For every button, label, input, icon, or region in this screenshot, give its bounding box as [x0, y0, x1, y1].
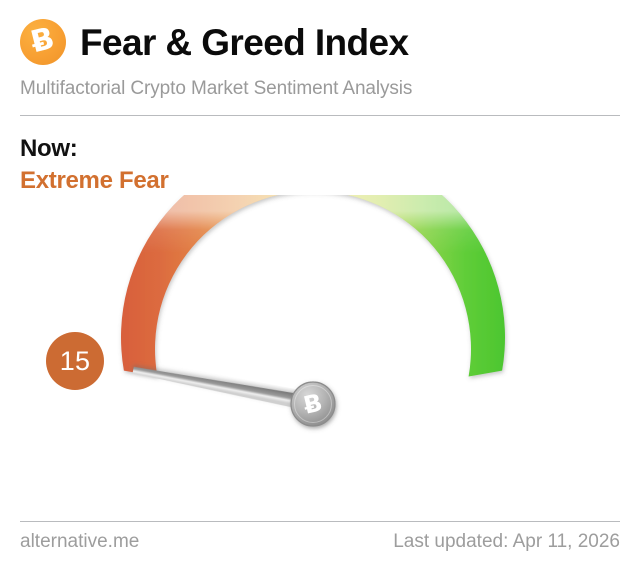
title-row: Ƀ Fear & Greed Index: [20, 16, 620, 68]
classification-label: Extreme Fear: [20, 167, 169, 195]
gauge-needle: [132, 363, 307, 410]
now-label: Now:: [20, 135, 169, 163]
source-label[interactable]: alternative.me: [20, 531, 139, 553]
header-divider: [20, 115, 620, 116]
footer-divider: [20, 521, 620, 522]
last-updated-label: Last updated: Apr 11, 2026: [393, 531, 620, 553]
needle-pointer: [132, 363, 307, 410]
gauge-hub: Ƀ: [291, 382, 335, 426]
bitcoin-icon: Ƀ: [20, 19, 66, 65]
score-badge: 15: [46, 332, 104, 390]
gauge-arc-group: [121, 195, 505, 377]
fear-greed-index-card: Ƀ Fear & Greed Index Multifactorial Cryp…: [0, 0, 640, 575]
header: Ƀ Fear & Greed Index Multifactorial Cryp…: [20, 16, 620, 100]
current-status-block: Now: Extreme Fear: [20, 135, 169, 196]
bitcoin-icon-glyph: Ƀ: [15, 14, 71, 70]
score-value: 15: [60, 346, 90, 377]
page-title: Fear & Greed Index: [80, 24, 409, 61]
page-subtitle: Multifactorial Crypto Market Sentiment A…: [20, 78, 620, 100]
gauge-arc-inner-shade: [121, 195, 505, 377]
footer: alternative.me Last updated: Apr 11, 202…: [20, 531, 620, 553]
